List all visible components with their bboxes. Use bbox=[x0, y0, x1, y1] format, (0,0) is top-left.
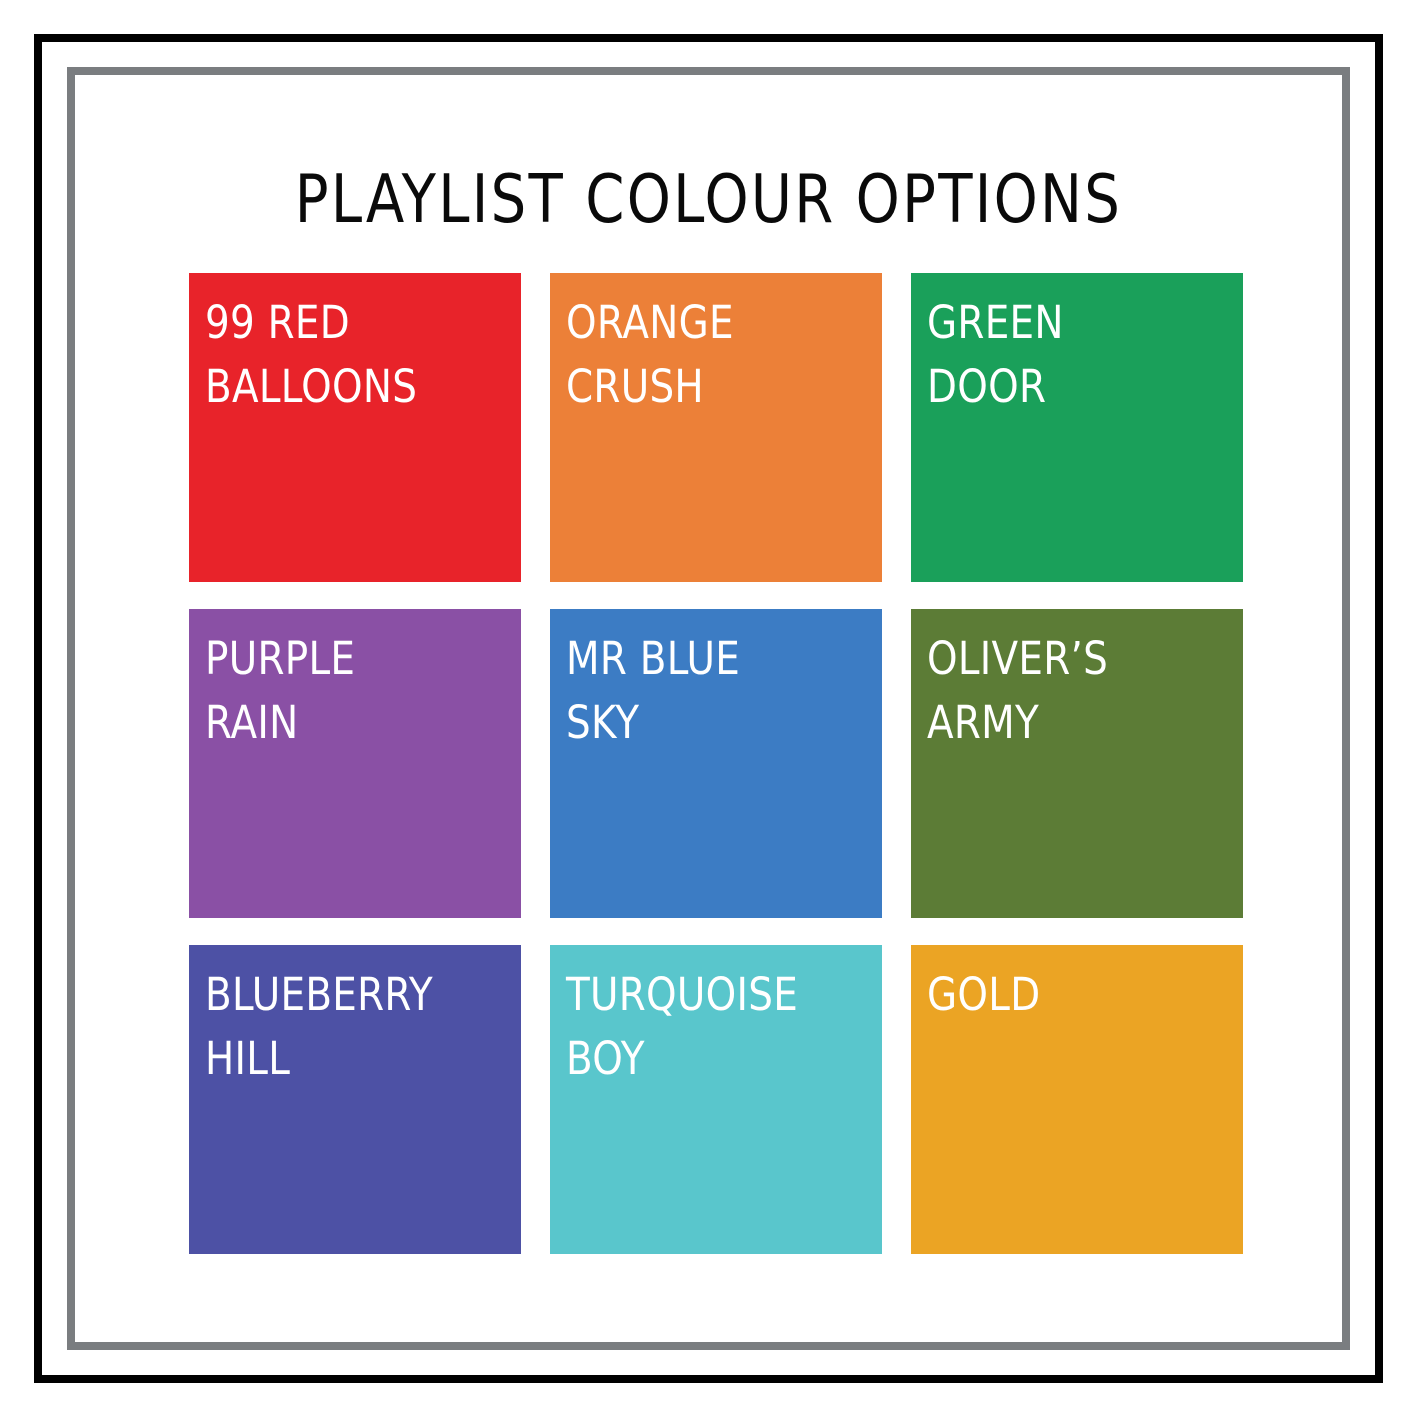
swatch-label: TURQUOISE BOY bbox=[566, 963, 862, 1091]
swatch-label: 99 RED BALLOONS bbox=[205, 291, 501, 419]
swatch-label: GOLD bbox=[927, 963, 1223, 1027]
swatch-label: ORANGE CRUSH bbox=[566, 291, 862, 419]
swatch-label: OLIVER’S ARMY bbox=[927, 627, 1223, 755]
colour-swatch-olive[interactable]: OLIVER’S ARMY bbox=[911, 609, 1243, 918]
swatch-grid: 99 RED BALLOONSORANGE CRUSHGREEN DOORPUR… bbox=[189, 273, 1260, 1254]
colour-swatch-gold[interactable]: GOLD bbox=[911, 945, 1243, 1254]
colour-swatch-indigo[interactable]: BLUEBERRY HILL bbox=[189, 945, 521, 1254]
poster-inner-frame: PLAYLIST COLOUR OPTIONS 99 RED BALLOONSO… bbox=[67, 67, 1350, 1350]
colour-swatch-orange[interactable]: ORANGE CRUSH bbox=[550, 273, 882, 582]
swatch-label: GREEN DOOR bbox=[927, 291, 1223, 419]
poster-outer-frame: PLAYLIST COLOUR OPTIONS 99 RED BALLOONSO… bbox=[34, 34, 1383, 1383]
colour-swatch-blue[interactable]: MR BLUE SKY bbox=[550, 609, 882, 918]
poster-content: PLAYLIST COLOUR OPTIONS 99 RED BALLOONSO… bbox=[75, 75, 1342, 1342]
colour-swatch-purple[interactable]: PURPLE RAIN bbox=[189, 609, 521, 918]
page-title: PLAYLIST COLOUR OPTIONS bbox=[119, 166, 1297, 233]
swatch-label: PURPLE RAIN bbox=[205, 627, 501, 755]
swatch-label: BLUEBERRY HILL bbox=[205, 963, 501, 1091]
swatch-label: MR BLUE SKY bbox=[566, 627, 862, 755]
colour-swatch-turquoise[interactable]: TURQUOISE BOY bbox=[550, 945, 882, 1254]
colour-swatch-red[interactable]: 99 RED BALLOONS bbox=[189, 273, 521, 582]
colour-swatch-green[interactable]: GREEN DOOR bbox=[911, 273, 1243, 582]
